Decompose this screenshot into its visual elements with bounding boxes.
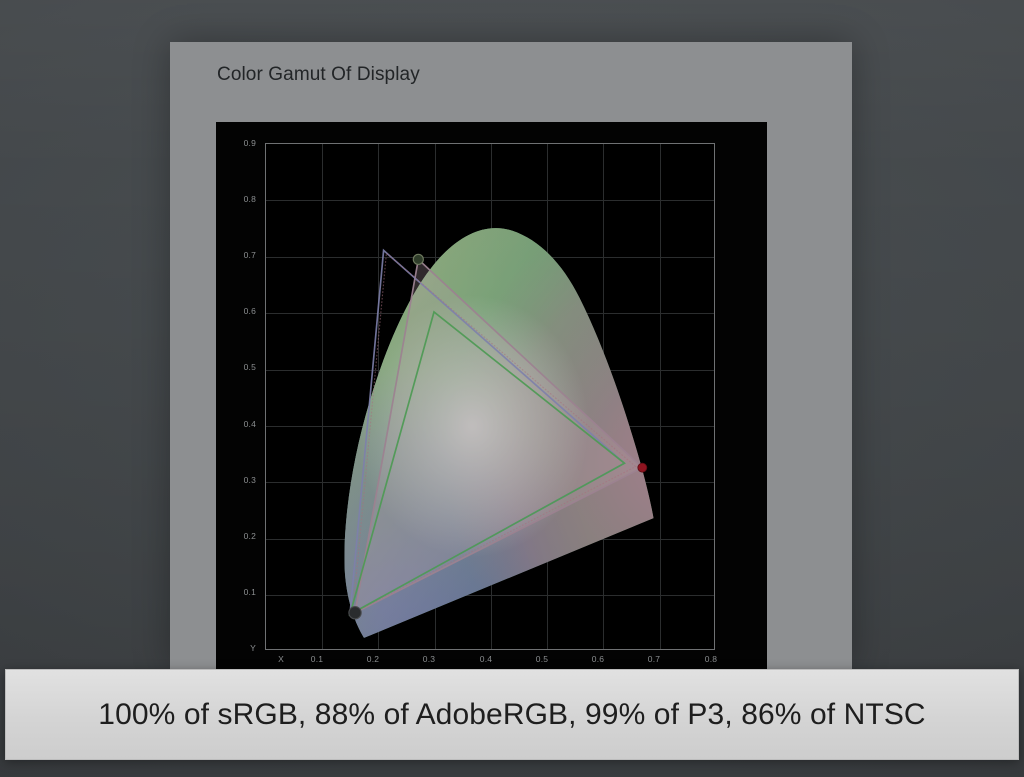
xtick-label: 0.2 [360,654,386,664]
caption-bar: 100% of sRGB, 88% of AdobeRGB, 99% of P3… [5,669,1019,760]
ytick-label: 0.1 [230,587,256,597]
ytick-label: 0.3 [230,475,256,485]
page-title: Color Gamut Of Display [217,64,420,86]
axis-label-x: X [268,654,294,664]
xtick-label: 0.3 [416,654,442,664]
blue-primary-marker [349,607,361,619]
gamut-coverage-caption: 100% of sRGB, 88% of AdobeRGB, 99% of P3… [98,698,925,732]
ytick-label: 0.6 [230,306,256,316]
red-primary-marker [638,463,647,472]
xtick-label: 0.7 [641,654,667,664]
cie-chromaticity-diagram [266,144,714,648]
ytick-label: 0.9 [230,138,256,148]
xtick-label: 0.6 [585,654,611,664]
ytick-label: 0.4 [230,419,256,429]
xtick-label: 0.4 [473,654,499,664]
green-primary-marker [413,254,423,264]
xtick-label: 0.1 [304,654,330,664]
ytick-label: 0.7 [230,250,256,260]
xtick-label: 0.5 [529,654,555,664]
plot-area: datacolor [265,143,715,650]
ytick-label: 0.2 [230,531,256,541]
screenshot-root: Color Gamut Of Display 0.9 0.8 0.7 0.6 0… [0,0,1024,777]
xtick-label: 0.8 [698,654,724,664]
ytick-label: 0.5 [230,362,256,372]
gamut-report-card: Color Gamut Of Display 0.9 0.8 0.7 0.6 0… [170,42,852,670]
axis-label-y: Y [230,643,256,653]
chart-panel: 0.9 0.8 0.7 0.6 0.5 0.4 0.3 0.2 0.1 Y X … [216,122,767,670]
ytick-label: 0.8 [230,194,256,204]
